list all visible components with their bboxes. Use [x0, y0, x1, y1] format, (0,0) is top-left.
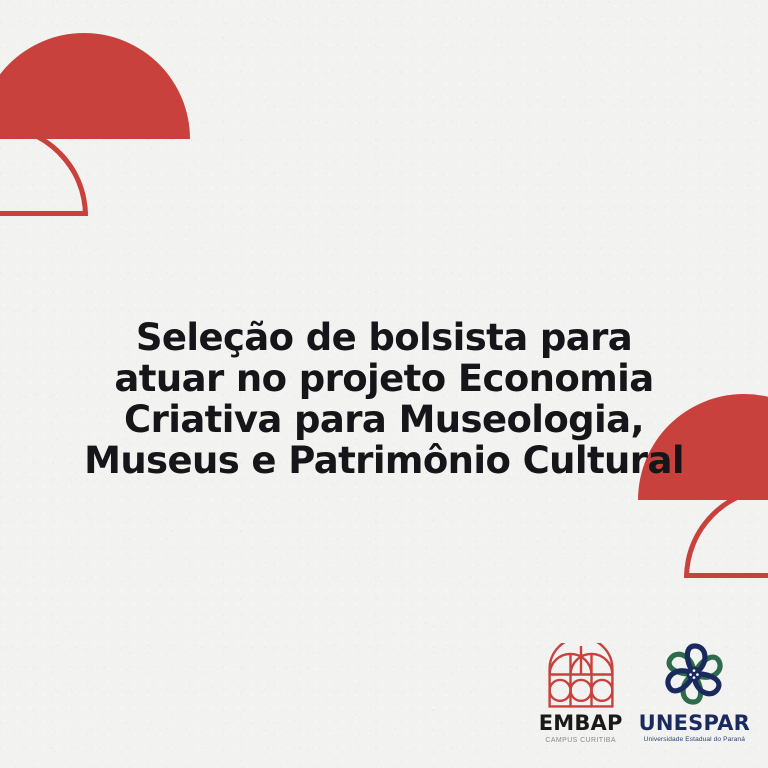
poster-canvas: Seleção de bolsista para atuar no projet… — [0, 0, 768, 768]
embap-wordmark: EMBAP — [539, 713, 623, 734]
page-title-line-4: Museus e Patrimônio Cultural — [70, 440, 698, 481]
page-title-line-3: Criativa para Museologia, — [70, 399, 698, 440]
rosette-knot-icon — [657, 639, 731, 709]
unespar-wordmark: UNESPAR — [639, 713, 750, 734]
embap-tagline: CAMPUS CURITIBA — [545, 737, 616, 744]
embap-logo: EMBAP CAMPUS CURITIBA — [539, 643, 623, 744]
arched-window-icon — [547, 643, 615, 709]
unespar-logo: UNESPAR Universidade Estadual do Paraná — [639, 639, 750, 744]
page-title-line-1: Seleção de bolsista para — [70, 317, 698, 358]
top-left-filled-dome — [0, 33, 190, 139]
unespar-tagline: Universidade Estadual do Paraná — [644, 737, 745, 744]
page-title: Seleção de bolsista para atuar no projet… — [0, 317, 768, 481]
logo-bar: EMBAP CAMPUS CURITIBA — [539, 639, 750, 744]
page-title-line-2: atuar no projeto Economia — [70, 358, 698, 399]
